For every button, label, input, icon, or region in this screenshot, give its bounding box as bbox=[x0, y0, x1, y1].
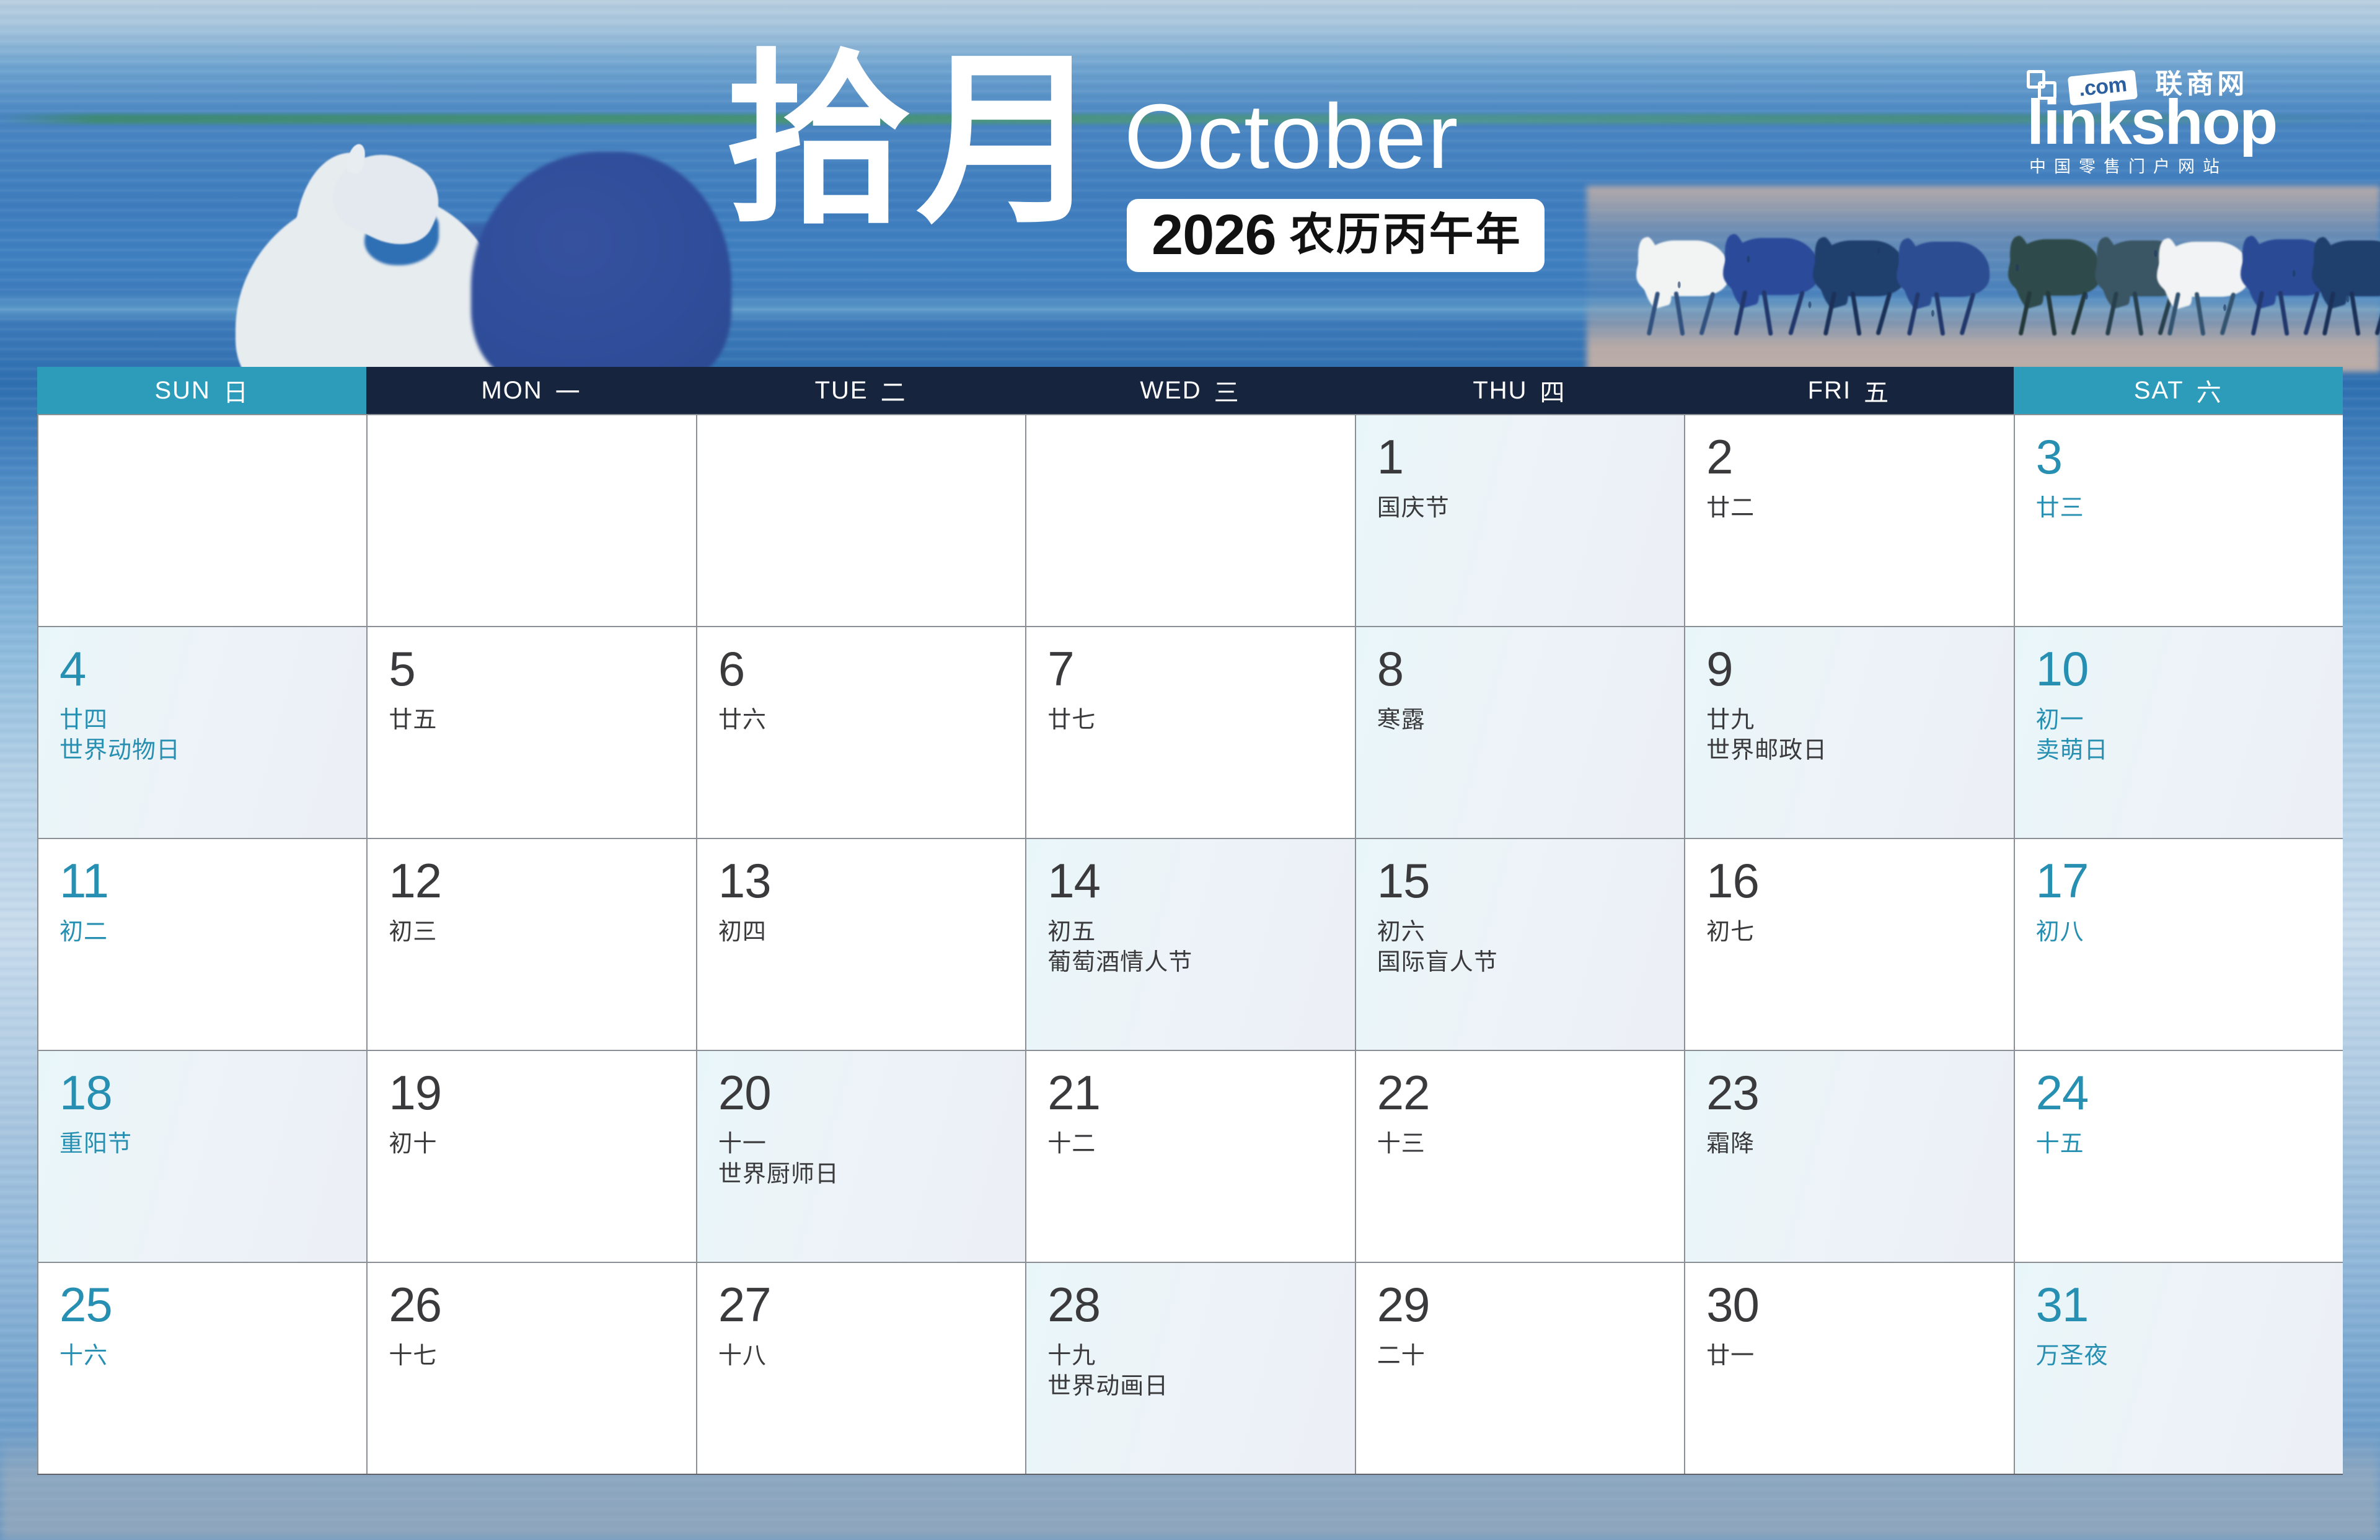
day-number: 9 bbox=[1706, 645, 1994, 693]
day-subtext: 初五葡萄酒情人节 bbox=[1047, 917, 1336, 977]
day-cell-8[interactable]: 8寒露 bbox=[1356, 627, 1684, 838]
day-cell-25[interactable]: 25十六 bbox=[38, 1263, 366, 1474]
weekday-en: MON bbox=[481, 377, 542, 405]
festival-label: 万圣夜 bbox=[2036, 1341, 2324, 1371]
festival-label: 霜降 bbox=[1706, 1129, 1994, 1159]
lunar-date: 十一 bbox=[718, 1129, 1007, 1159]
lunar-date: 二十 bbox=[1377, 1341, 1665, 1371]
day-cell-28[interactable]: 28十九世界动画日 bbox=[1026, 1263, 1354, 1474]
festival-label: 国际盲人节 bbox=[1377, 948, 1665, 978]
day-number: 8 bbox=[1377, 645, 1665, 693]
lunar-date: 初五 bbox=[1047, 917, 1336, 948]
lunar-date: 廿三 bbox=[2036, 493, 2324, 524]
day-cell-2[interactable]: 2廿二 bbox=[1685, 415, 2013, 626]
day-number: 23 bbox=[1706, 1068, 1994, 1117]
lunar-date: 十三 bbox=[1377, 1129, 1665, 1159]
weekday-en: TUE bbox=[815, 377, 868, 405]
day-cell-21[interactable]: 21十二 bbox=[1026, 1051, 1354, 1262]
day-cell-16[interactable]: 16初七 bbox=[1685, 839, 2013, 1050]
day-number: 20 bbox=[718, 1068, 1007, 1117]
day-number: 25 bbox=[59, 1280, 348, 1329]
lunar-date: 初三 bbox=[389, 917, 677, 948]
weekday-en: WED bbox=[1140, 377, 1201, 405]
day-number: 6 bbox=[718, 645, 1007, 693]
festival-label: 世界邮政日 bbox=[1706, 736, 1994, 766]
lunar-date: 廿七 bbox=[1047, 705, 1336, 736]
weekday-header-mon: MON一 bbox=[366, 367, 695, 414]
day-subtext: 初十 bbox=[389, 1129, 677, 1159]
weekday-header-wed: WED三 bbox=[1025, 367, 1354, 414]
festival-label: 国庆节 bbox=[1377, 493, 1665, 524]
weekday-cn: 三 bbox=[1214, 372, 1240, 408]
day-cell-29[interactable]: 29二十 bbox=[1356, 1263, 1684, 1474]
day-cell-empty bbox=[1026, 415, 1354, 626]
day-subtext: 二十 bbox=[1377, 1341, 1665, 1371]
month-title-en: October bbox=[1124, 91, 1545, 183]
weekday-cn: 日 bbox=[223, 372, 249, 408]
lunar-date: 初二 bbox=[59, 917, 348, 948]
day-cell-empty bbox=[697, 415, 1025, 626]
weekday-header-thu: THU四 bbox=[1355, 367, 1684, 414]
lunar-date: 初七 bbox=[1706, 917, 1994, 948]
day-subtext: 十七 bbox=[389, 1341, 677, 1371]
weekday-header-fri: FRI五 bbox=[1684, 367, 2013, 414]
day-cell-27[interactable]: 27十八 bbox=[697, 1263, 1025, 1474]
day-cell-15[interactable]: 15初六国际盲人节 bbox=[1356, 839, 1684, 1050]
festival-label: 世界动物日 bbox=[59, 736, 348, 766]
lunar-date: 廿一 bbox=[1706, 1341, 1994, 1371]
day-number: 3 bbox=[2036, 433, 2324, 481]
calendar-grid-container: SUN日MON一TUE二WED三THU四FRI五SAT六 1国庆节2廿二3廿三4… bbox=[37, 367, 2343, 1475]
month-title-block: 拾月 October 2026 农历丙午年 bbox=[725, 53, 1545, 272]
day-subtext: 寒露 bbox=[1377, 705, 1665, 736]
calendar-page: 拾月 October 2026 农历丙午年 .com 联商网 linkshop … bbox=[0, 0, 2380, 1540]
day-cell-7[interactable]: 7廿七 bbox=[1026, 627, 1354, 838]
day-cell-12[interactable]: 12初三 bbox=[368, 839, 695, 1050]
lunar-date: 初十 bbox=[389, 1129, 677, 1159]
day-cell-26[interactable]: 26十七 bbox=[368, 1263, 695, 1474]
festival-label: 重阳节 bbox=[59, 1129, 348, 1159]
lunar-date: 十二 bbox=[1047, 1129, 1336, 1159]
day-subtext: 十五 bbox=[2036, 1129, 2324, 1159]
day-subtext: 初七 bbox=[1706, 917, 1994, 948]
day-number: 15 bbox=[1377, 856, 1665, 905]
weekday-header-sat: SAT六 bbox=[2014, 367, 2343, 414]
day-cell-11[interactable]: 11初二 bbox=[38, 839, 366, 1050]
day-subtext: 万圣夜 bbox=[2036, 1341, 2324, 1371]
day-number: 30 bbox=[1706, 1280, 1994, 1329]
festival-label: 葡萄酒情人节 bbox=[1047, 948, 1336, 978]
day-cell-4[interactable]: 4廿四世界动物日 bbox=[38, 627, 366, 838]
day-subtext: 十三 bbox=[1377, 1129, 1665, 1159]
weekday-en: SUN bbox=[154, 377, 210, 405]
day-subtext: 初三 bbox=[389, 917, 677, 948]
day-cell-17[interactable]: 17初八 bbox=[2015, 839, 2343, 1050]
day-cell-23[interactable]: 23霜降 bbox=[1685, 1051, 2013, 1262]
lunar-date: 十六 bbox=[59, 1341, 348, 1371]
day-cell-30[interactable]: 30廿一 bbox=[1685, 1263, 2013, 1474]
grid-bottom-border bbox=[37, 1474, 2343, 1475]
day-cell-31[interactable]: 31万圣夜 bbox=[2015, 1263, 2343, 1474]
day-subtext: 初二 bbox=[59, 917, 348, 948]
day-number: 1 bbox=[1377, 433, 1665, 481]
day-number: 21 bbox=[1047, 1068, 1336, 1117]
year-badge: 2026 农历丙午年 bbox=[1127, 199, 1545, 272]
weekday-cn: 一 bbox=[555, 372, 581, 408]
day-number: 17 bbox=[2036, 856, 2324, 905]
day-subtext: 初四 bbox=[718, 917, 1007, 948]
day-number: 18 bbox=[59, 1068, 348, 1117]
lunar-date: 初六 bbox=[1377, 917, 1665, 948]
lunar-date: 廿二 bbox=[1706, 493, 1994, 524]
day-number: 4 bbox=[59, 645, 348, 693]
day-number: 12 bbox=[389, 856, 677, 905]
year-number: 2026 bbox=[1152, 206, 1276, 263]
day-subtext: 廿五 bbox=[389, 705, 677, 736]
lunar-date: 初一 bbox=[2036, 705, 2324, 736]
day-subtext: 国庆节 bbox=[1377, 493, 1665, 524]
day-number: 16 bbox=[1706, 856, 1994, 905]
overlapping-squares-icon bbox=[2027, 70, 2059, 102]
day-subtext: 廿六 bbox=[718, 705, 1007, 736]
weekday-header-tue: TUE二 bbox=[696, 367, 1025, 414]
weekday-cn: 五 bbox=[1864, 372, 1890, 408]
festival-label: 世界动画日 bbox=[1047, 1371, 1336, 1402]
days-grid: 1国庆节2廿二3廿三4廿四世界动物日5廿五6廿六7廿七8寒露9廿九世界邮政日10… bbox=[37, 414, 2343, 1474]
lunar-date: 廿四 bbox=[59, 705, 348, 736]
day-cell-20[interactable]: 20十一世界厨师日 bbox=[697, 1051, 1025, 1262]
day-number: 19 bbox=[389, 1068, 677, 1117]
day-number: 2 bbox=[1706, 433, 1994, 481]
lunar-date: 十八 bbox=[718, 1341, 1007, 1371]
day-cell-3[interactable]: 3廿三 bbox=[2015, 415, 2343, 626]
day-number: 10 bbox=[2036, 645, 2324, 693]
day-cell-1[interactable]: 1国庆节 bbox=[1356, 415, 1684, 626]
day-number: 14 bbox=[1047, 856, 1336, 905]
festival-label: 卖萌日 bbox=[2036, 736, 2324, 766]
day-cell-24[interactable]: 24十五 bbox=[2015, 1051, 2343, 1262]
lunar-date: 初四 bbox=[718, 917, 1007, 948]
day-cell-5[interactable]: 5廿五 bbox=[368, 627, 695, 838]
day-cell-19[interactable]: 19初十 bbox=[368, 1051, 695, 1262]
lunar-date: 十九 bbox=[1047, 1341, 1336, 1371]
day-number: 27 bbox=[718, 1280, 1007, 1329]
weekday-en: SAT bbox=[2134, 377, 2184, 405]
day-number: 28 bbox=[1047, 1280, 1336, 1329]
weekday-cn: 四 bbox=[1540, 372, 1566, 408]
day-subtext: 廿三 bbox=[2036, 493, 2324, 524]
calendar-header: 拾月 October 2026 农历丙午年 .com 联商网 linkshop … bbox=[0, 0, 2380, 372]
lunar-date: 廿六 bbox=[718, 705, 1007, 736]
linkshop-logo[interactable]: .com 联商网 linkshop 中国零售门户网站 bbox=[2027, 65, 2275, 177]
lunar-date: 初八 bbox=[2036, 917, 2324, 948]
day-number: 24 bbox=[2036, 1068, 2324, 1117]
day-cell-18[interactable]: 18重阳节 bbox=[38, 1051, 366, 1262]
day-subtext: 初六国际盲人节 bbox=[1377, 917, 1665, 977]
day-subtext: 初一卖萌日 bbox=[2036, 705, 2324, 765]
month-title-cn: 拾月 bbox=[725, 53, 1107, 229]
day-cell-empty bbox=[38, 415, 366, 626]
logo-wordmark: linkshop bbox=[2027, 94, 2275, 152]
day-number: 29 bbox=[1377, 1280, 1665, 1329]
festival-label: 寒露 bbox=[1377, 705, 1665, 736]
day-cell-14[interactable]: 14初五葡萄酒情人节 bbox=[1026, 839, 1354, 1050]
day-number: 22 bbox=[1377, 1068, 1665, 1117]
day-subtext: 十六 bbox=[59, 1341, 348, 1371]
day-subtext: 初八 bbox=[2036, 917, 2324, 948]
festival-label: 世界厨师日 bbox=[718, 1159, 1007, 1190]
day-number: 11 bbox=[59, 856, 348, 905]
day-subtext: 重阳节 bbox=[59, 1129, 348, 1159]
day-number: 26 bbox=[389, 1280, 677, 1329]
lunar-date: 廿九 bbox=[1706, 705, 1994, 736]
day-subtext: 十一世界厨师日 bbox=[718, 1129, 1007, 1189]
day-cell-22[interactable]: 22十三 bbox=[1356, 1051, 1684, 1262]
day-number: 5 bbox=[389, 645, 677, 693]
day-subtext: 廿一 bbox=[1706, 1341, 1994, 1371]
weekday-en: FRI bbox=[1808, 377, 1851, 405]
day-cell-9[interactable]: 9廿九世界邮政日 bbox=[1685, 627, 2013, 838]
weekday-cn: 二 bbox=[881, 372, 907, 408]
lunar-date: 十七 bbox=[389, 1341, 677, 1371]
weekday-en: THU bbox=[1473, 377, 1527, 405]
day-subtext: 霜降 bbox=[1706, 1129, 1994, 1159]
day-cell-6[interactable]: 6廿六 bbox=[697, 627, 1025, 838]
day-number: 7 bbox=[1047, 645, 1336, 693]
lunar-date: 十五 bbox=[2036, 1129, 2324, 1159]
day-subtext: 廿二 bbox=[1706, 493, 1994, 524]
day-number: 13 bbox=[718, 856, 1007, 905]
day-cell-empty bbox=[368, 415, 695, 626]
day-subtext: 廿四世界动物日 bbox=[59, 705, 348, 765]
lunar-date: 廿五 bbox=[389, 705, 677, 736]
day-subtext: 十八 bbox=[718, 1341, 1007, 1371]
day-subtext: 廿七 bbox=[1047, 705, 1336, 736]
day-subtext: 十九世界动画日 bbox=[1047, 1341, 1336, 1401]
day-cell-13[interactable]: 13初四 bbox=[697, 839, 1025, 1050]
lunar-year-label: 农历丙午年 bbox=[1290, 213, 1522, 257]
weekday-cn: 六 bbox=[2197, 372, 2223, 408]
day-cell-10[interactable]: 10初一卖萌日 bbox=[2015, 627, 2343, 838]
weekday-header-sun: SUN日 bbox=[37, 367, 366, 414]
day-subtext: 十二 bbox=[1047, 1129, 1336, 1159]
weekday-header-row: SUN日MON一TUE二WED三THU四FRI五SAT六 bbox=[37, 367, 2343, 414]
day-number: 31 bbox=[2036, 1280, 2324, 1329]
day-subtext: 廿九世界邮政日 bbox=[1706, 705, 1994, 765]
